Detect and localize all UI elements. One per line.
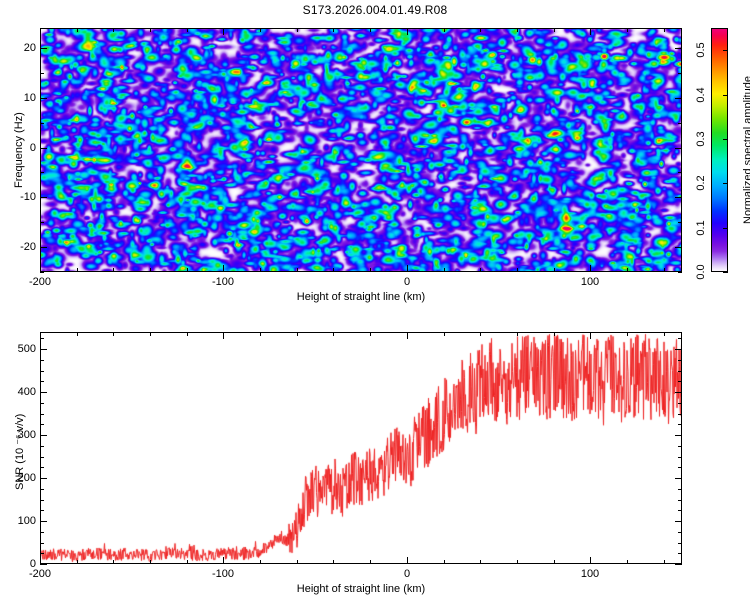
axis-tick <box>444 268 445 272</box>
axis-tick <box>40 521 47 522</box>
axis-tick <box>678 532 682 533</box>
axis-tick <box>223 265 224 272</box>
axis-tick <box>370 560 371 564</box>
axis-tick <box>590 28 591 35</box>
axis-tick <box>40 247 47 248</box>
axis-tick <box>223 28 224 35</box>
axis-tick <box>627 28 628 32</box>
axis-tick <box>517 268 518 272</box>
snr-ytick-label: 100 <box>8 515 36 527</box>
axis-tick <box>664 560 665 564</box>
spectrogram-image <box>40 28 682 272</box>
snr-xaxis-label: Height of straight line (km) <box>297 583 425 595</box>
axis-tick <box>40 435 47 436</box>
axis-tick <box>40 148 47 149</box>
axis-tick <box>40 28 41 35</box>
axis-tick <box>223 332 224 339</box>
colorbar-tick-label: 0.2 <box>695 175 707 190</box>
axis-tick <box>40 272 44 273</box>
axis-tick <box>517 560 518 564</box>
axis-tick <box>675 392 682 393</box>
axis-tick <box>40 265 41 272</box>
axis-tick <box>675 349 682 350</box>
axis-tick <box>590 557 591 564</box>
axis-tick <box>150 560 151 564</box>
snr-trace <box>40 332 682 564</box>
axis-tick <box>40 564 47 565</box>
axis-tick <box>444 28 445 32</box>
axis-tick <box>678 467 682 468</box>
axis-tick <box>40 222 44 223</box>
spectrogram-ytick-label: 10 <box>12 92 36 104</box>
axis-tick <box>260 268 261 272</box>
axis-tick <box>333 332 334 336</box>
axis-tick <box>675 98 682 99</box>
axis-tick <box>407 557 408 564</box>
axis-tick <box>664 332 665 336</box>
colorbar-tick-label: 0.5 <box>695 42 707 57</box>
spectrogram-xaxis-label: Height of straight line (km) <box>297 291 425 303</box>
axis-tick <box>664 28 665 32</box>
axis-tick <box>40 360 44 361</box>
snr-ytick-label: 0 <box>8 558 36 570</box>
axis-tick <box>223 557 224 564</box>
axis-tick <box>40 123 44 124</box>
axis-tick <box>113 560 114 564</box>
axis-tick <box>77 28 78 32</box>
axis-tick <box>675 247 682 248</box>
axis-tick <box>627 268 628 272</box>
axis-tick <box>333 560 334 564</box>
spectrogram-plot-area <box>40 28 682 272</box>
axis-tick <box>150 268 151 272</box>
axis-tick <box>40 424 44 425</box>
axis-tick <box>40 349 47 350</box>
axis-tick <box>678 73 682 74</box>
axis-tick <box>260 560 261 564</box>
axis-tick <box>678 272 682 273</box>
spectrogram-xtick-label: 100 <box>581 276 599 288</box>
axis-tick <box>40 510 44 511</box>
axis-tick <box>407 265 408 272</box>
axis-tick <box>77 268 78 272</box>
snr-yaxis-label: SNR (10 ⁻⁶ v/v) <box>13 414 26 490</box>
axis-tick <box>678 371 682 372</box>
axis-tick <box>723 183 728 184</box>
axis-tick <box>480 560 481 564</box>
axis-tick <box>517 332 518 336</box>
axis-tick <box>554 332 555 336</box>
axis-tick <box>480 332 481 336</box>
axis-tick <box>40 553 44 554</box>
axis-tick <box>675 435 682 436</box>
axis-tick <box>675 478 682 479</box>
axis-tick <box>370 28 371 32</box>
axis-tick <box>260 332 261 336</box>
axis-tick <box>40 489 44 490</box>
axis-tick <box>40 500 44 501</box>
axis-tick <box>40 467 44 468</box>
axis-tick <box>40 371 44 372</box>
axis-tick <box>333 28 334 32</box>
colorbar-tick-label: 0.0 <box>695 264 707 279</box>
axis-tick <box>370 332 371 336</box>
axis-tick <box>113 268 114 272</box>
figure-root: S173.2026.004.01.49.R08 -200-1000100-20-… <box>0 0 750 600</box>
axis-tick <box>40 532 44 533</box>
axis-tick <box>678 172 682 173</box>
axis-tick <box>678 553 682 554</box>
axis-tick <box>187 28 188 32</box>
axis-tick <box>40 197 47 198</box>
axis-tick <box>517 28 518 32</box>
axis-tick <box>678 222 682 223</box>
snr-ytick-label: 400 <box>8 386 36 398</box>
axis-tick <box>723 50 728 51</box>
axis-tick <box>370 268 371 272</box>
axis-tick <box>40 478 47 479</box>
axis-tick <box>260 28 261 32</box>
axis-tick <box>678 543 682 544</box>
spectrogram-xtick-label: -200 <box>29 276 51 288</box>
axis-tick <box>77 560 78 564</box>
axis-tick <box>444 332 445 336</box>
spectrogram-xtick-label: -100 <box>212 276 234 288</box>
axis-tick <box>554 28 555 32</box>
axis-tick <box>664 268 665 272</box>
axis-tick <box>678 123 682 124</box>
axis-tick <box>678 381 682 382</box>
spectrogram-ytick-label: -10 <box>12 191 36 203</box>
colorbar-tick-label: 0.4 <box>695 87 707 102</box>
axis-tick <box>627 560 628 564</box>
axis-tick <box>40 543 44 544</box>
axis-tick <box>40 172 44 173</box>
axis-tick <box>678 500 682 501</box>
axis-tick <box>678 446 682 447</box>
figure-title: S173.2026.004.01.49.R08 <box>0 3 750 17</box>
axis-tick <box>678 424 682 425</box>
axis-tick <box>40 381 44 382</box>
colorbar-tick-label: 0.3 <box>695 131 707 146</box>
axis-tick <box>40 98 47 99</box>
axis-tick <box>723 95 728 96</box>
axis-tick <box>554 560 555 564</box>
snr-ytick-label: 500 <box>8 343 36 355</box>
axis-tick <box>77 332 78 336</box>
axis-tick <box>675 48 682 49</box>
axis-tick <box>723 272 728 273</box>
axis-tick <box>675 197 682 198</box>
axis-tick <box>150 332 151 336</box>
axis-tick <box>480 268 481 272</box>
axis-tick <box>590 332 591 339</box>
axis-tick <box>40 338 44 339</box>
axis-tick <box>590 265 591 272</box>
spectrogram-xtick-label: 0 <box>404 276 410 288</box>
snr-xtick-label: 0 <box>404 568 410 580</box>
axis-tick <box>675 564 682 565</box>
axis-tick <box>40 403 44 404</box>
colorbar-axis-label: Normalized spectral amplitude <box>742 76 750 224</box>
axis-tick <box>40 457 44 458</box>
axis-tick <box>187 332 188 336</box>
axis-tick <box>187 560 188 564</box>
axis-tick <box>297 560 298 564</box>
axis-tick <box>113 332 114 336</box>
axis-tick <box>297 28 298 32</box>
axis-tick <box>40 414 44 415</box>
axis-tick <box>678 510 682 511</box>
axis-tick <box>678 403 682 404</box>
axis-tick <box>678 338 682 339</box>
snr-plot-area <box>40 332 682 564</box>
snr-xtick-label: 100 <box>581 568 599 580</box>
axis-tick <box>723 228 728 229</box>
axis-tick <box>675 148 682 149</box>
axis-tick <box>407 332 408 339</box>
axis-tick <box>150 28 151 32</box>
axis-tick <box>678 360 682 361</box>
colorbar-gradient <box>711 28 728 272</box>
colorbar <box>711 28 728 272</box>
spectrogram-ytick-label: 20 <box>12 42 36 54</box>
axis-tick <box>678 457 682 458</box>
axis-tick <box>297 332 298 336</box>
axis-tick <box>40 73 44 74</box>
axis-tick <box>480 28 481 32</box>
axis-tick <box>113 28 114 32</box>
axis-tick <box>675 521 682 522</box>
axis-tick <box>678 489 682 490</box>
axis-tick <box>627 332 628 336</box>
axis-tick <box>407 28 408 35</box>
axis-tick <box>678 414 682 415</box>
spectrogram-yaxis-label: Frequency (Hz) <box>13 112 25 188</box>
colorbar-tick-label: 0.1 <box>695 220 707 235</box>
axis-tick <box>40 392 47 393</box>
axis-tick <box>723 139 728 140</box>
axis-tick <box>187 268 188 272</box>
snr-xtick-label: -100 <box>212 568 234 580</box>
axis-tick <box>444 560 445 564</box>
spectrogram-ytick-label: -20 <box>12 241 36 253</box>
axis-tick <box>40 48 47 49</box>
axis-tick <box>40 446 44 447</box>
axis-tick <box>297 268 298 272</box>
axis-tick <box>554 268 555 272</box>
axis-tick <box>333 268 334 272</box>
axis-tick <box>40 557 41 564</box>
